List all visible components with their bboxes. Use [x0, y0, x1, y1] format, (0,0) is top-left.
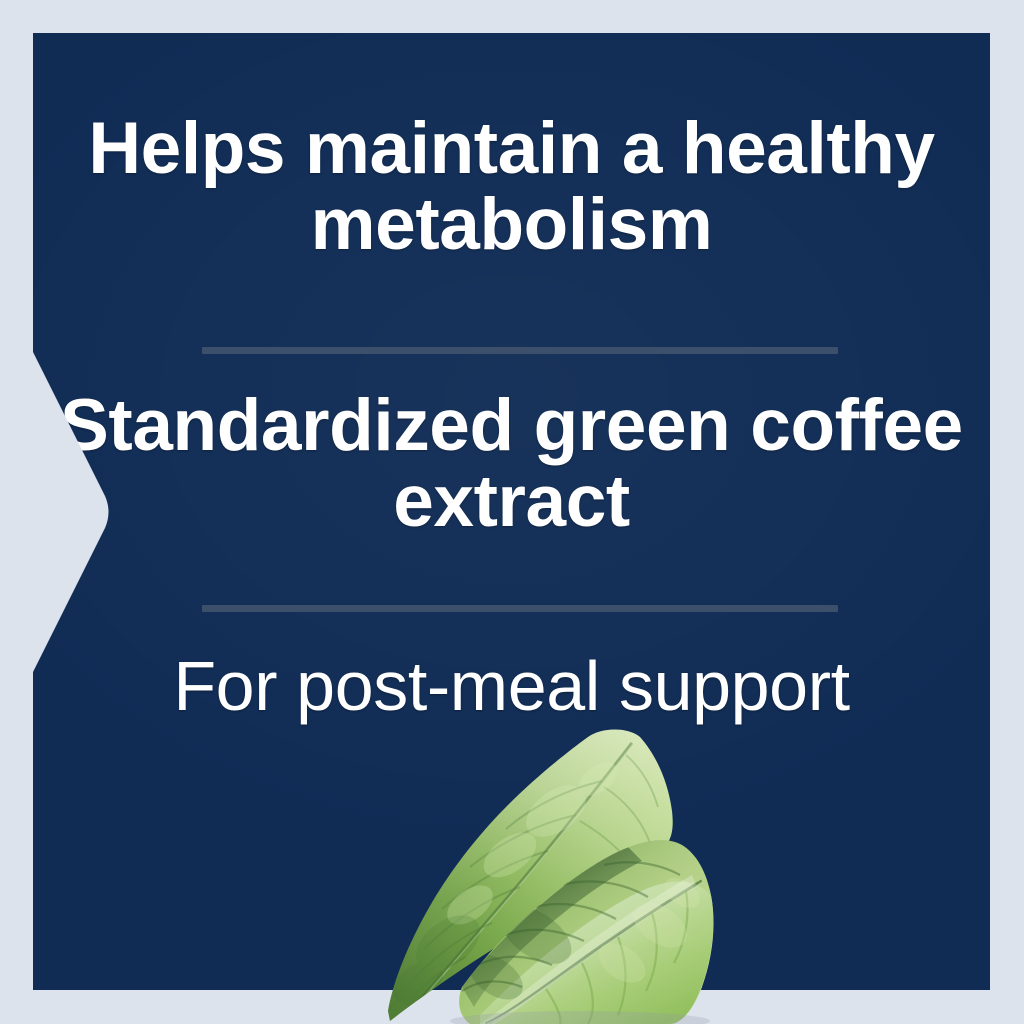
promo-graphic-root: Helps maintain a healthy metabolism Stan… — [0, 0, 1024, 1024]
benefit-headline-metabolism: Helps maintain a healthy metabolism — [33, 111, 990, 263]
chevron-path — [0, 0, 109, 1024]
benefit-headline-green-coffee-extract: Standardized green coffee extract — [33, 388, 990, 540]
bottom-margin — [0, 990, 1024, 1024]
chevron-right-icon — [0, 0, 130, 1024]
chevron-svg — [0, 0, 130, 1024]
right-margin — [990, 0, 1024, 1024]
benefit-divider-1 — [202, 347, 838, 354]
benefit-divider-2 — [202, 605, 838, 612]
benefit-headline-post-meal-support: For post-meal support — [33, 650, 990, 723]
benefits-content: Helps maintain a healthy metabolism Stan… — [33, 33, 990, 990]
